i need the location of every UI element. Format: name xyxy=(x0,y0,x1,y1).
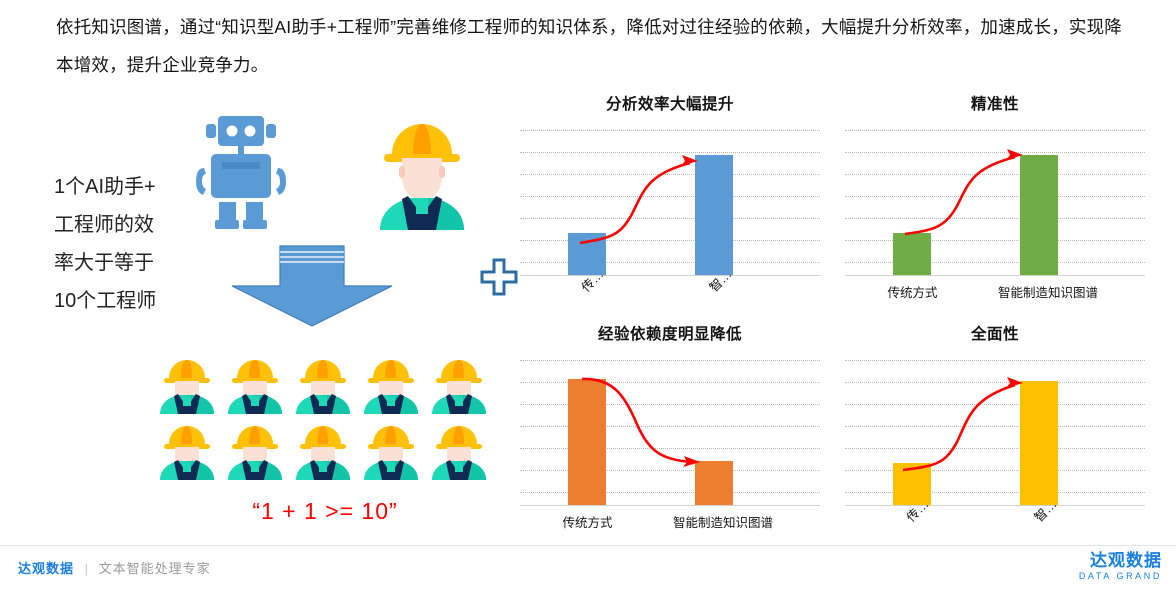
slide: 依托知识图谱，通过“知识型AI助手+工程师”完善维修工程师的知识体系，降低对过往… xyxy=(0,0,1176,592)
chart-title: 分析效率大幅提升 xyxy=(520,92,820,114)
footer-tagline: 文本智能处理专家 xyxy=(99,561,211,576)
chart-title: 精准性 xyxy=(845,92,1145,114)
engineer-icon xyxy=(224,422,286,480)
engineer-icon xyxy=(428,422,490,480)
category-label: 传统方式 xyxy=(530,512,645,531)
chart-precision: 精准性 传统方式 智能制造知识图谱 xyxy=(845,92,1145,322)
footer-separator: | xyxy=(85,561,88,576)
chart-experience-reliance: 经验依赖度明显降低 传统方式 智能制造知识图谱 xyxy=(520,322,820,552)
left-caption-line-4: 10个工程师 xyxy=(54,282,224,320)
engineer-icon xyxy=(360,422,422,480)
company-logo: 达观数据 DATA GRAND xyxy=(1079,551,1162,582)
engineer-icon xyxy=(224,356,286,414)
category-label: 传统方式 xyxy=(855,282,970,301)
down-arrow-icon xyxy=(228,244,396,328)
engineer-icon xyxy=(428,356,490,414)
engineer-icon xyxy=(372,118,472,230)
engineer-icon xyxy=(156,422,218,480)
robot-plus-engineer-illustration xyxy=(186,112,476,232)
chart-title: 经验依赖度明显降低 xyxy=(520,322,820,344)
chart-efficiency: 分析效率大幅提升 传… 智… xyxy=(520,92,820,322)
rising-curve-arrow-icon xyxy=(845,126,1145,276)
left-caption-line-1: 1个AI助手+ xyxy=(54,168,224,206)
category-label: 智能制造知识图谱 xyxy=(973,282,1123,301)
footer-divider xyxy=(0,545,1176,546)
engineer-icon xyxy=(292,422,354,480)
left-caption-line-2: 工程师的效 xyxy=(54,206,224,244)
logo-chinese-name: 达观数据 xyxy=(1079,551,1162,570)
left-caption-line-3: 率大于等于 xyxy=(54,244,224,282)
engineer-icon xyxy=(292,356,354,414)
page-title: 依托知识图谱，通过“知识型AI助手+工程师”完善维修工程师的知识体系，降低对过往… xyxy=(56,8,1128,84)
engineer-icon xyxy=(156,356,218,414)
engineer-icon xyxy=(360,356,422,414)
falling-curve-arrow-icon xyxy=(520,356,820,506)
formula-text: “1 + 1 >= 10” xyxy=(150,498,500,525)
category-labels: 传… 智… xyxy=(520,276,820,322)
plus-icon xyxy=(478,258,520,300)
chart-title: 全面性 xyxy=(845,322,1145,344)
logo-english-name: DATA GRAND xyxy=(1079,570,1162,582)
category-label: 智能制造知识图谱 xyxy=(648,512,798,531)
chart-completeness: 全面性 传… 智… xyxy=(845,322,1145,552)
rising-curve-arrow-icon xyxy=(520,126,820,276)
footer-brand-line: 达观数据 | 文本智能处理专家 xyxy=(18,558,211,577)
engineer-grid xyxy=(156,356,496,480)
left-caption: 1个AI助手+ 工程师的效 率大于等于 10个工程师 xyxy=(54,168,224,320)
footer-brand: 达观数据 xyxy=(18,561,74,576)
rising-curve-arrow-icon xyxy=(845,356,1145,506)
category-labels: 传统方式 智能制造知识图谱 xyxy=(845,276,1145,322)
